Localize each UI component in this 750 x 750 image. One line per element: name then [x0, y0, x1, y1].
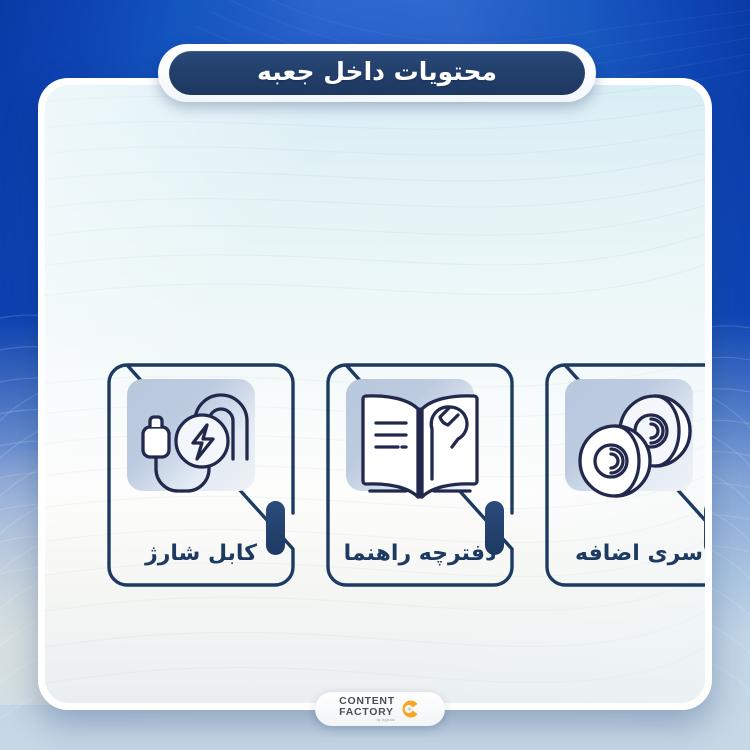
card-icon-area	[340, 373, 500, 513]
brand-line-1: CONTENT	[339, 696, 395, 707]
content-panel: سری اضافه	[38, 78, 712, 710]
charging-cable-icon	[121, 373, 281, 513]
card-side-tab	[266, 501, 285, 555]
contents-card-row: سری اضافه	[107, 363, 705, 587]
card-icon-area	[121, 373, 281, 513]
card-side-tab	[704, 501, 705, 555]
brand-subtext: by digikala	[339, 719, 395, 722]
title-pill: محتویات داخل جعبه	[169, 51, 585, 95]
brand-line-2: FACTORY	[339, 707, 395, 718]
brand-logo: CONTENT FACTORY by digikala	[315, 692, 445, 726]
card-label: سری اضافه	[545, 543, 705, 565]
content-card[interactable]: سری اضافه	[545, 363, 705, 587]
earbud-tips-icon	[559, 373, 705, 513]
manual-book-wrench-icon	[340, 373, 500, 513]
panel-inner-surface: سری اضافه	[45, 85, 705, 703]
card-icon-area	[559, 373, 705, 513]
content-factory-c-icon	[401, 699, 421, 719]
content-card[interactable]: کابل شارژ	[107, 363, 295, 587]
content-card[interactable]: دفترچه راهنما	[326, 363, 514, 587]
poster-canvas: سری اضافه	[0, 0, 750, 750]
title-banner: محتویات داخل جعبه	[158, 44, 596, 102]
page-title: محتویات داخل جعبه	[257, 59, 497, 87]
brand-logo-text: CONTENT FACTORY by digikala	[339, 696, 395, 722]
card-side-tab	[485, 501, 504, 555]
